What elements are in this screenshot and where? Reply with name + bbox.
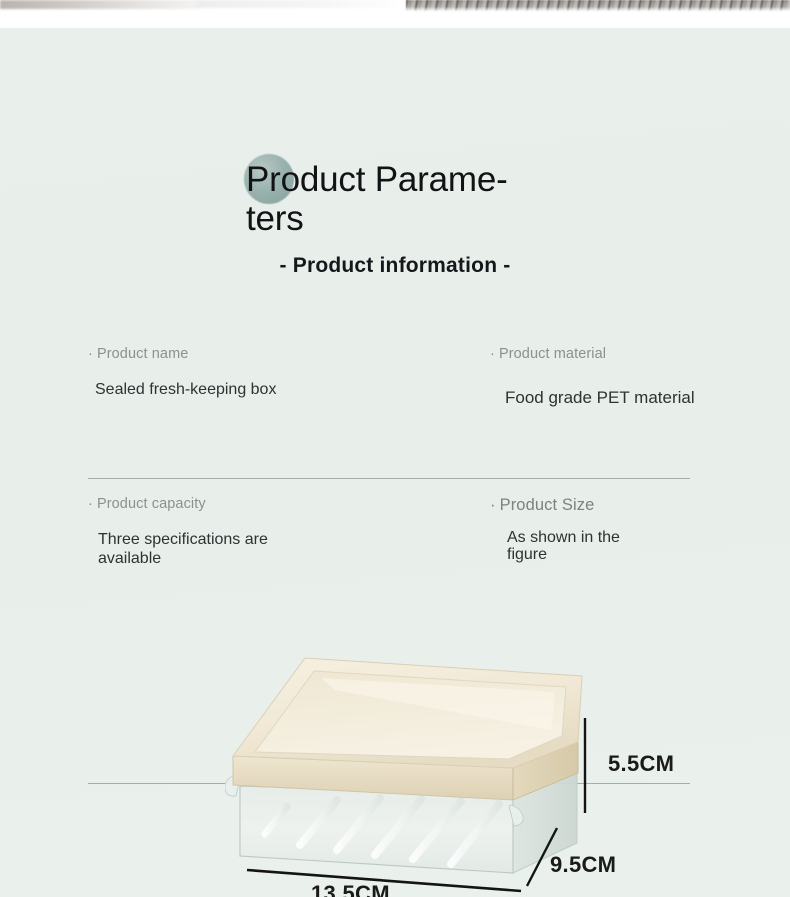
spec-divider [88, 478, 690, 479]
spec-label-text: Product name [97, 346, 188, 362]
dimension-label-depth: 9.5CM [550, 852, 616, 878]
spec-row: ·Product name Sealed fresh-keeping box ·… [0, 346, 790, 496]
dimension-label-width: 13.5CM [311, 881, 390, 897]
spec-value: Sealed fresh-keeping box [95, 380, 280, 399]
remnant-mid-swatch [196, 0, 411, 8]
bullet-dot-icon: · [490, 346, 495, 362]
spec-item-product-size: ·Product Size As shown in the figure [490, 496, 790, 563]
spec-label-text: Product Size [500, 496, 595, 514]
dimension-label-height: 5.5CM [608, 751, 674, 777]
spec-label: ·Product material [490, 346, 790, 362]
product-parameters-page: Product Parame- ters - Product informati… [0, 0, 790, 897]
spec-item-product-capacity: ·Product capacity Three specifications a… [88, 496, 418, 568]
bullet-dot-icon: · [88, 346, 93, 362]
bullet-dot-icon: · [88, 496, 93, 512]
spec-label: ·Product capacity [88, 496, 418, 512]
spec-item-product-name: ·Product name Sealed fresh-keeping box [88, 346, 418, 399]
spec-value: Three specifications are available [98, 530, 273, 568]
previous-section-remnant [0, 0, 790, 28]
spec-label: ·Product name [88, 346, 418, 362]
spec-value: Food grade PET material [505, 388, 765, 407]
page-subtitle: - Product information - [0, 254, 790, 278]
remnant-right-photo [406, 0, 790, 12]
spec-item-product-material: ·Product material Food grade PET materia… [490, 346, 790, 407]
spec-grid: ·Product name Sealed fresh-keeping box ·… [0, 346, 790, 646]
spec-value: As shown in the figure [507, 529, 657, 563]
page-title: Product Parame- ters [246, 160, 546, 238]
remnant-left-swatch [0, 0, 200, 9]
spec-label-text: Product material [499, 346, 606, 362]
spec-label: ·Product Size [490, 496, 790, 515]
spec-label-text: Product capacity [97, 496, 206, 512]
bullet-dot-icon: · [490, 496, 496, 514]
content-panel: Product Parame- ters - Product informati… [0, 28, 790, 897]
spec-row: ·Product capacity Three specifications a… [0, 496, 790, 646]
